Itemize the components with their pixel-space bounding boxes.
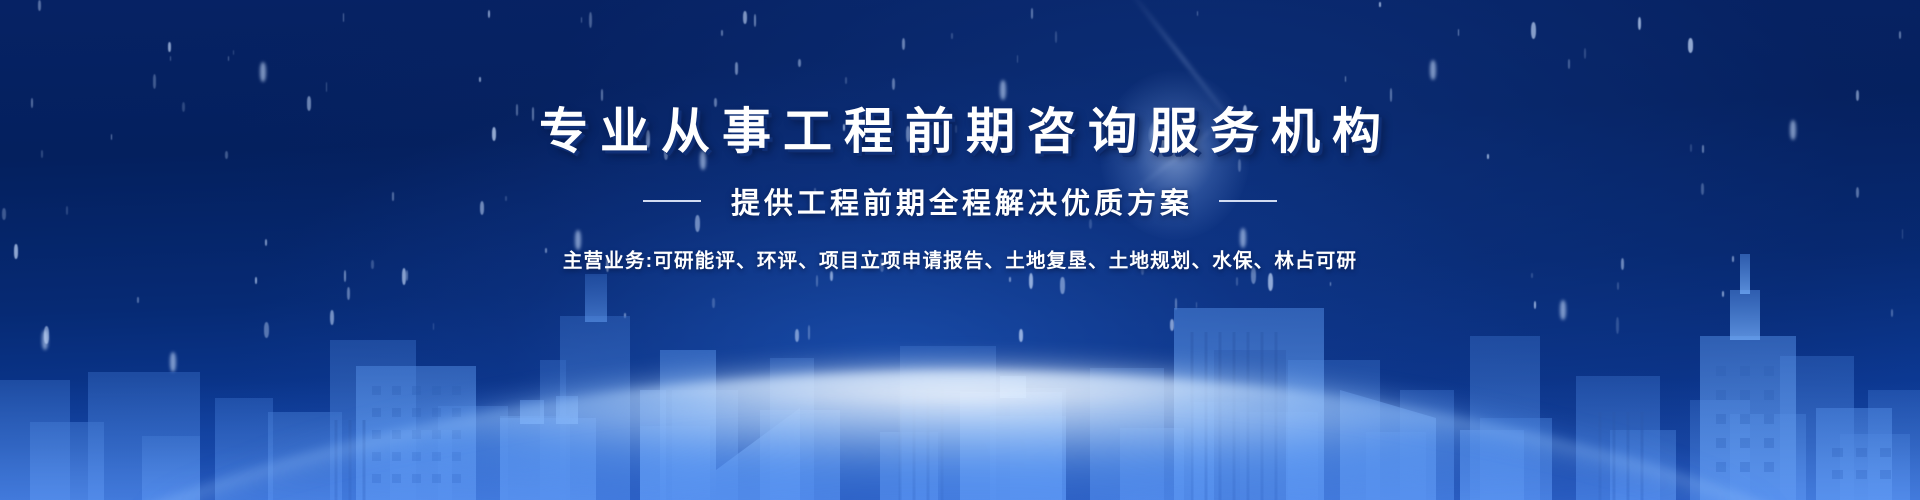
banner-subtitle-row: 提供工程前期全程解决优质方案 xyxy=(643,180,1277,222)
banner-content: 专业从事工程前期咨询服务机构 提供工程前期全程解决优质方案 主营业务:可研能评、… xyxy=(0,0,1920,500)
banner-headline: 专业从事工程前期咨询服务机构 xyxy=(527,108,1393,157)
divider-left-icon xyxy=(643,200,701,202)
divider-right-icon xyxy=(1219,200,1277,202)
banner-subtitle: 提供工程前期全程解决优质方案 xyxy=(727,180,1193,222)
hero-banner: 专业从事工程前期咨询服务机构 提供工程前期全程解决优质方案 主营业务:可研能评、… xyxy=(0,0,1920,500)
banner-business-line: 主营业务:可研能评、环评、项目立项申请报告、土地复垦、土地规划、水保、林占可研 xyxy=(563,244,1357,273)
